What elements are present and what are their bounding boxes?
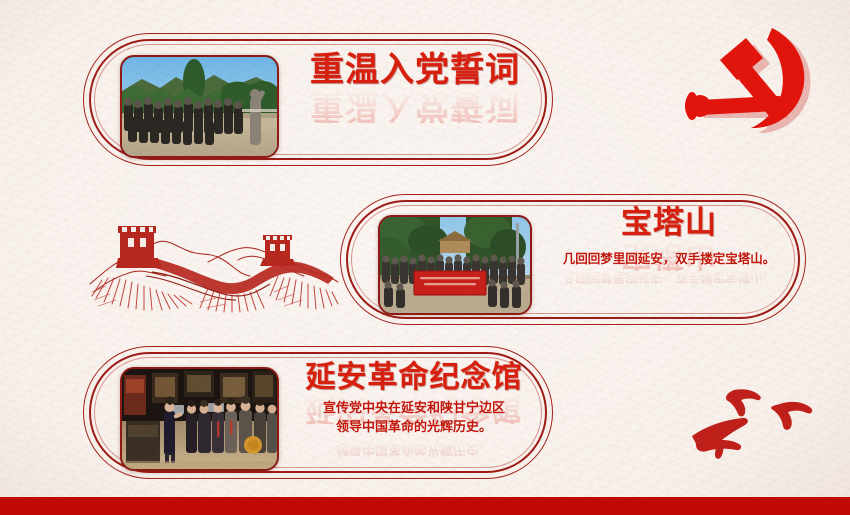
bottom-red-bar	[0, 497, 850, 515]
panel-baota-title: 宝塔山	[545, 208, 793, 239]
panel-museum-title: 延安革命纪念馆	[283, 363, 545, 393]
panel-oath[interactable]: 重温入党誓词 重温入党誓词	[83, 33, 553, 166]
panel-museum-subtitle: 宣传党中央在延安和陕甘宁边区 领导中国革命的光辉历史。	[283, 400, 545, 438]
panel-museum[interactable]: 延安革命纪念馆 延安革命纪念馆 宣传党中央在延安和陕甘宁边区 领导中国革命的光辉…	[83, 346, 553, 479]
panel-baota-subtitle-reflection: 几回回梦里回延安，双手搂定宝塔山。	[545, 268, 793, 286]
panel-baota-text: 宝塔山 宝塔山 几回回梦里回延安，双手搂定宝塔山。 几回回梦里回延安，双手搂定宝…	[545, 208, 793, 286]
poster-canvas: 重温入党誓词 重温入党誓词	[0, 0, 850, 515]
panel-oath-text: 重温入党誓词 重温入党誓词	[291, 53, 539, 123]
photo-oath-ceremony[interactable]	[120, 55, 279, 158]
panel-museum-subtitle-reflection: 领导中国革命的光辉历史。	[283, 438, 545, 457]
photo-baota-group-image	[380, 217, 530, 313]
panel-museum-subtitle-line-2: 领导中国革命的光辉历史。	[283, 419, 545, 438]
panel-museum-text: 延安革命纪念馆 延安革命纪念馆 宣传党中央在延安和陕甘宁边区 领导中国革命的光辉…	[283, 363, 545, 457]
flying-doves-icon	[688, 378, 840, 460]
photo-baota-group[interactable]	[378, 215, 532, 315]
panel-oath-title: 重温入党誓词	[291, 53, 539, 87]
photo-oath-ceremony-image	[122, 57, 277, 156]
panel-oath-title-reflection: 重温入党誓词	[291, 89, 539, 123]
panel-baota[interactable]: 宝塔山 宝塔山 几回回梦里回延安，双手搂定宝塔山。 几回回梦里回延安，双手搂定宝…	[340, 194, 806, 325]
hammer-and-sickle-icon	[684, 26, 832, 144]
photo-museum-visit-image	[122, 369, 277, 469]
great-wall-illustration	[88, 216, 340, 328]
photo-museum-visit[interactable]	[120, 367, 279, 471]
panel-baota-subtitle-line-1: 几回回梦里回延安，双手搂定宝塔山。	[545, 250, 793, 268]
panel-museum-subtitle-line-1: 宣传党中央在延安和陕甘宁边区	[283, 400, 545, 419]
